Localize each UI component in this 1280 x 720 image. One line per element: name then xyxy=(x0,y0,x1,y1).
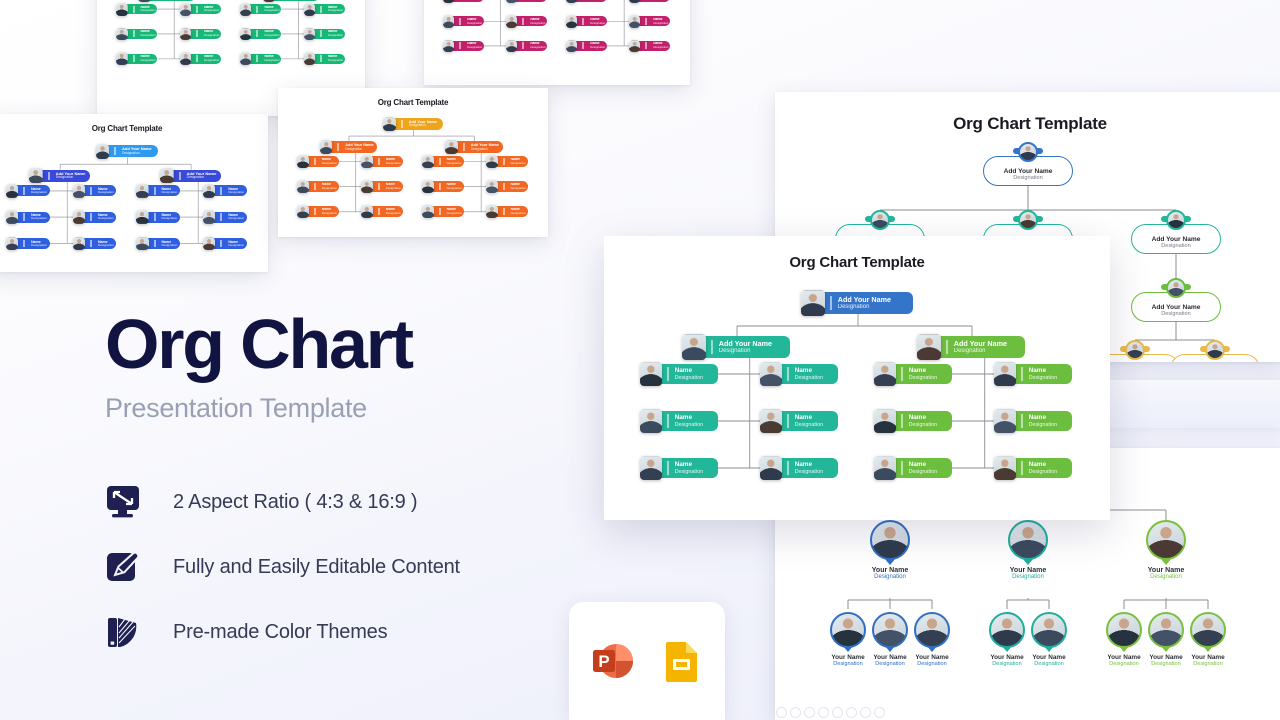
org-node[interactable]: Your NameDesignation xyxy=(983,520,1073,580)
org-node-name: Add Your Name xyxy=(719,340,790,348)
org-node[interactable]: NameDesignation xyxy=(74,238,116,249)
org-node-text: NameDesignation xyxy=(314,183,339,190)
org-node-designation: Designation xyxy=(141,9,158,12)
org-node[interactable]: NameDesignation xyxy=(181,29,221,40)
avatar xyxy=(422,155,434,168)
slide-card-orange-theme[interactable]: Org Chart TemplateAdd Your NameDesignati… xyxy=(278,88,548,237)
org-node-designation: Designation xyxy=(1178,661,1238,667)
org-node-text: NameDesignation xyxy=(503,183,528,190)
org-node-name: Your Name xyxy=(1178,654,1238,661)
avatar xyxy=(443,15,454,28)
org-node[interactable]: NameDesignation xyxy=(487,181,528,192)
toolbar-icon-download[interactable] xyxy=(790,707,801,718)
org-node-designation: Designation xyxy=(322,212,339,215)
org-node-designation: Designation xyxy=(228,217,246,220)
org-node[interactable]: NameDesignation xyxy=(487,206,528,217)
org-node[interactable]: NameDesignation xyxy=(74,212,116,223)
org-node-designation: Designation xyxy=(345,148,377,152)
page-title: Org Chart Template xyxy=(604,254,1110,271)
avatar xyxy=(994,456,1016,480)
org-node[interactable]: NameDesignation xyxy=(423,181,464,192)
page-title: Org Chart Template xyxy=(278,98,548,107)
org-node-designation: Designation xyxy=(98,217,116,220)
org-node[interactable]: NameDesignation xyxy=(630,0,670,2)
toolbar-icon-share[interactable] xyxy=(818,707,829,718)
org-node-designation: Designation xyxy=(467,46,484,49)
avatar xyxy=(629,15,640,28)
org-node[interactable]: NameDesignation xyxy=(298,156,339,167)
org-node[interactable]: Add Your NameDesignation xyxy=(384,118,443,130)
org-node-name: Name xyxy=(1029,414,1072,421)
avatar xyxy=(1205,340,1225,360)
avatar xyxy=(304,3,315,16)
org-node-text: Add Your NameDesignation xyxy=(946,340,1025,355)
org-node-name: Your Name xyxy=(1121,567,1211,574)
org-node[interactable]: NameDesignation xyxy=(204,185,246,196)
org-node[interactable]: Add Your NameDesignation xyxy=(446,141,503,153)
monitor-aspect-ratio-icon xyxy=(105,483,145,523)
org-node-designation: Designation xyxy=(1161,243,1191,249)
org-node[interactable]: NameDesignation xyxy=(444,16,484,27)
avatar xyxy=(870,210,890,230)
org-node-text: NameDesignation xyxy=(154,213,180,220)
org-node-text: NameDesignation xyxy=(220,187,246,194)
list-item: 2 Aspect Ratio ( 4:3 & 16:9 ) xyxy=(105,470,460,535)
org-node-text: NameDesignation xyxy=(582,42,607,49)
org-node[interactable]: NameDesignation xyxy=(181,4,221,15)
org-node[interactable]: NameDesignation xyxy=(204,212,246,223)
org-node-designation: Designation xyxy=(204,9,221,12)
org-node-text: NameDesignation xyxy=(645,18,670,25)
avatar xyxy=(566,15,577,28)
org-node[interactable]: NameDesignation xyxy=(567,0,607,2)
app-compatibility-card: P xyxy=(569,602,725,720)
org-node[interactable]: NameDesignation xyxy=(117,54,157,65)
org-node-designation: Designation xyxy=(675,422,718,428)
powerpoint-icon: P xyxy=(587,635,639,687)
org-node[interactable]: Add Your NameDesignation xyxy=(31,170,90,182)
avatar xyxy=(6,184,18,198)
org-node[interactable]: NameDesignation xyxy=(996,411,1072,431)
toolbar-icon-edit[interactable] xyxy=(804,707,815,718)
slide-card-blue-theme[interactable]: Org Chart TemplateAdd Your NameDesignati… xyxy=(0,114,268,272)
avatar xyxy=(361,180,373,193)
org-node[interactable]: NameDesignation xyxy=(204,238,246,249)
org-node-designation: Designation xyxy=(322,187,339,190)
org-node-name: Name xyxy=(795,461,838,468)
org-node-text: NameDesignation xyxy=(154,240,180,247)
org-node[interactable]: Your NameDesignation xyxy=(845,520,935,580)
org-node[interactable]: Your NameDesignation xyxy=(1121,520,1211,580)
avatar xyxy=(566,0,577,3)
avatar xyxy=(1166,210,1186,230)
avatar xyxy=(1018,142,1038,162)
org-node-designation: Designation xyxy=(31,244,49,247)
org-node-text: NameDesignation xyxy=(154,187,180,194)
avatar xyxy=(116,52,127,65)
org-node[interactable]: Add Your NameDesignation xyxy=(919,336,1025,358)
org-node-text: NameDesignation xyxy=(314,158,339,165)
org-node[interactable]: Add Your NameDesignation xyxy=(162,170,221,182)
avatar xyxy=(240,28,251,41)
org-node[interactable]: NameDesignation xyxy=(241,29,281,40)
org-node-name: Name xyxy=(675,367,718,374)
color-fan-palette-icon xyxy=(105,613,145,653)
org-node[interactable]: NameDesignation xyxy=(362,181,403,192)
avatar xyxy=(640,456,662,480)
avatar xyxy=(116,3,127,16)
org-node-designation: Designation xyxy=(653,22,670,25)
org-node[interactable]: NameDesignation xyxy=(507,0,547,2)
org-node-designation: Designation xyxy=(264,59,281,62)
avatar xyxy=(874,362,896,386)
org-node[interactable]: NameDesignation xyxy=(642,458,718,478)
org-node-designation: Designation xyxy=(530,22,547,25)
org-node-text: NameDesignation xyxy=(320,55,345,62)
org-node[interactable]: NameDesignation xyxy=(241,4,281,15)
avatar xyxy=(180,3,191,16)
org-node[interactable]: Add Your NameDesignation xyxy=(139,0,195,1)
org-node-name: Add Your Name xyxy=(1004,168,1053,175)
org-node[interactable]: NameDesignation xyxy=(630,41,670,52)
org-node-text: NameDesignation xyxy=(220,240,246,247)
org-node-text: NameDesignation xyxy=(522,42,547,49)
org-node-text: NameDesignation xyxy=(1021,461,1072,474)
org-node[interactable]: NameDesignation xyxy=(423,206,464,217)
org-node-designation: Designation xyxy=(511,162,528,165)
org-node-text: Add Your NameDesignation xyxy=(114,147,158,155)
org-node[interactable]: NameDesignation xyxy=(642,411,718,431)
avatar xyxy=(160,168,173,183)
org-node[interactable]: NameDesignation xyxy=(876,411,952,431)
org-node-designation: Designation xyxy=(909,375,952,381)
list-item-label: Fully and Easily Editable Content xyxy=(173,556,460,579)
org-node-name: Your Name xyxy=(1019,654,1079,661)
org-node-name: Your Name xyxy=(902,654,962,661)
org-node[interactable]: Add Your NameDesignation xyxy=(684,336,790,358)
org-node[interactable]: Your NameDesignation xyxy=(1019,612,1079,667)
org-node[interactable]: NameDesignation xyxy=(507,41,547,52)
org-node-designation: Designation xyxy=(122,152,158,156)
list-item-label: 2 Aspect Ratio ( 4:3 & 16:9 ) xyxy=(173,491,417,514)
org-node[interactable]: NameDesignation xyxy=(642,364,718,384)
org-node[interactable]: NameDesignation xyxy=(138,212,180,223)
org-node-designation: Designation xyxy=(1013,175,1043,181)
org-node-name: Name xyxy=(795,367,838,374)
org-node-text: NameDesignation xyxy=(196,30,221,37)
avatar xyxy=(640,362,662,386)
avatar xyxy=(297,180,309,193)
org-node-designation: Designation xyxy=(409,124,443,128)
avatar xyxy=(6,237,18,251)
org-node[interactable]: NameDesignation xyxy=(298,206,339,217)
org-node[interactable]: NameDesignation xyxy=(876,458,952,478)
org-node-name: Name xyxy=(1029,461,1072,468)
org-node-designation: Designation xyxy=(675,375,718,381)
avatar xyxy=(443,40,454,53)
org-node-designation: Designation xyxy=(1029,469,1072,475)
avatar xyxy=(73,184,85,198)
org-node[interactable]: NameDesignation xyxy=(362,156,403,167)
org-node-text: NameDesignation xyxy=(196,55,221,62)
org-node[interactable]: NameDesignation xyxy=(423,156,464,167)
org-node-text: NameDesignation xyxy=(645,42,670,49)
org-node[interactable]: NameDesignation xyxy=(762,458,838,478)
avatar xyxy=(29,168,42,183)
org-node[interactable]: NameDesignation xyxy=(117,29,157,40)
org-node-text: NameDesignation xyxy=(667,461,718,474)
org-node[interactable]: NameDesignation xyxy=(567,16,607,27)
avatar xyxy=(994,409,1016,433)
avatar xyxy=(138,0,151,2)
avatar xyxy=(486,180,498,193)
org-node-text: NameDesignation xyxy=(901,461,952,474)
avatar xyxy=(203,210,215,224)
org-node-text: Add Your NameDesignation xyxy=(711,340,790,355)
org-node-name: Name xyxy=(909,367,952,374)
avatar xyxy=(629,40,640,53)
org-node-designation: Designation xyxy=(98,191,116,194)
org-node[interactable]: NameDesignation xyxy=(996,364,1072,384)
org-node-designation: Designation xyxy=(56,176,90,180)
org-node-text: Add Your NameDesignation xyxy=(48,172,90,180)
org-node-name: Your Name xyxy=(983,567,1073,574)
org-node-text: NameDesignation xyxy=(459,42,484,49)
avatar xyxy=(566,40,577,53)
avatar xyxy=(422,180,434,193)
org-node-designation: Designation xyxy=(845,574,935,580)
org-node-text: NameDesignation xyxy=(23,213,49,220)
org-node-text: NameDesignation xyxy=(439,183,464,190)
org-node-designation: Designation xyxy=(530,46,547,49)
org-node-text: NameDesignation xyxy=(378,158,403,165)
avatar xyxy=(320,140,333,154)
org-node-text: NameDesignation xyxy=(320,6,345,13)
org-node-designation: Designation xyxy=(590,46,607,49)
org-node-designation: Designation xyxy=(795,375,838,381)
avatar xyxy=(1031,612,1067,648)
svg-text:P: P xyxy=(598,652,609,671)
toolbar-icon-play[interactable] xyxy=(776,707,787,718)
avatar xyxy=(203,237,215,251)
toolbar-icon-grid[interactable] xyxy=(860,707,871,718)
avatar xyxy=(1008,520,1048,560)
org-node[interactable]: NameDesignation xyxy=(7,238,49,249)
avatar xyxy=(96,144,109,159)
org-node-name: Name xyxy=(909,414,952,421)
org-node-text: Add Your NameDesignation xyxy=(463,143,503,151)
avatar xyxy=(297,205,309,218)
slide-card-magenta-theme[interactable]: Add Your NameDesignationAdd Your NameDes… xyxy=(424,0,690,85)
org-node-designation: Designation xyxy=(328,59,345,62)
toolbar-icon-search[interactable] xyxy=(832,707,843,718)
org-node-name: Add Your Name xyxy=(954,340,1025,348)
org-node[interactable]: Add Your NameDesignation xyxy=(264,0,320,1)
org-node-designation: Designation xyxy=(141,34,158,37)
org-node-designation: Designation xyxy=(1121,574,1211,580)
org-node-designation: Designation xyxy=(653,46,670,49)
org-node-designation: Designation xyxy=(795,469,838,475)
org-node-designation: Designation xyxy=(162,244,180,247)
avatar xyxy=(1018,210,1038,230)
avatar xyxy=(1125,340,1145,360)
org-node[interactable]: NameDesignation xyxy=(487,156,528,167)
org-node[interactable]: Add Your NameDesignation xyxy=(1131,292,1221,322)
page-title: Org Chart Template xyxy=(0,124,268,133)
org-node[interactable]: Add Your NameDesignation xyxy=(321,141,378,153)
avatar xyxy=(297,155,309,168)
org-node[interactable]: NameDesignation xyxy=(762,364,838,384)
avatar xyxy=(116,28,127,41)
org-node[interactable]: NameDesignation xyxy=(762,411,838,431)
org-node-designation: Designation xyxy=(228,191,246,194)
org-node-designation: Designation xyxy=(386,187,403,190)
avatar xyxy=(304,28,315,41)
avatar xyxy=(136,237,148,251)
org-node[interactable]: NameDesignation xyxy=(7,212,49,223)
org-node-designation: Designation xyxy=(162,191,180,194)
toolbar-icon-list[interactable] xyxy=(846,707,857,718)
avatar xyxy=(760,409,782,433)
org-node-designation: Designation xyxy=(447,212,464,215)
org-node-designation: Designation xyxy=(719,348,790,355)
org-node-text: Add Your NameDesignation xyxy=(830,296,913,311)
avatar xyxy=(361,155,373,168)
avatar xyxy=(506,0,517,3)
org-node[interactable]: NameDesignation xyxy=(567,41,607,52)
org-node-designation: Designation xyxy=(162,217,180,220)
org-node-designation: Designation xyxy=(1029,422,1072,428)
org-node-text: Add Your NameDesignation xyxy=(337,143,377,151)
avatar xyxy=(136,184,148,198)
org-node-text: NameDesignation xyxy=(256,55,281,62)
org-node[interactable]: NameDesignation xyxy=(241,54,281,65)
avatar xyxy=(760,362,782,386)
avatar xyxy=(136,210,148,224)
avatar xyxy=(994,362,1016,386)
org-node[interactable]: NameDesignation xyxy=(444,0,484,2)
org-node[interactable]: NameDesignation xyxy=(996,458,1072,478)
org-node-designation: Designation xyxy=(98,244,116,247)
avatar xyxy=(640,409,662,433)
list-item: Pre-made Color Themes xyxy=(105,600,460,665)
org-node[interactable]: NameDesignation xyxy=(74,185,116,196)
org-node-designation: Designation xyxy=(141,59,158,62)
org-node[interactable]: NameDesignation xyxy=(138,238,180,249)
org-node-text: NameDesignation xyxy=(787,414,838,427)
org-node[interactable]: Add Your NameDesignation xyxy=(803,292,913,314)
org-node-designation: Designation xyxy=(447,187,464,190)
org-node[interactable]: NameDesignation xyxy=(507,16,547,27)
org-node-text: NameDesignation xyxy=(459,18,484,25)
avatar xyxy=(874,456,896,480)
org-node-text: NameDesignation xyxy=(23,187,49,194)
org-node[interactable]: Your NameDesignation xyxy=(902,612,962,667)
avatar xyxy=(1190,612,1226,648)
page-title: Org Chart Template xyxy=(775,114,1280,134)
org-node-name: Name xyxy=(675,414,718,421)
avatar xyxy=(443,0,454,3)
org-node[interactable]: Your NameDesignation xyxy=(1178,612,1238,667)
org-node-designation: Designation xyxy=(909,469,952,475)
avatar xyxy=(180,52,191,65)
org-node[interactable]: NameDesignation xyxy=(362,206,403,217)
avatar xyxy=(874,409,896,433)
org-node-text: NameDesignation xyxy=(787,461,838,474)
toolbar-icon-more[interactable] xyxy=(874,707,885,718)
org-node-designation: Designation xyxy=(590,22,607,25)
org-node-designation: Designation xyxy=(983,574,1073,580)
org-node-text: NameDesignation xyxy=(522,18,547,25)
org-node[interactable]: Add Your NameDesignation xyxy=(1170,354,1260,362)
org-node[interactable]: NameDesignation xyxy=(305,29,345,40)
org-node-designation: Designation xyxy=(467,22,484,25)
org-node-text: NameDesignation xyxy=(503,158,528,165)
google-slides-icon xyxy=(655,635,707,687)
org-node-text: NameDesignation xyxy=(90,240,116,247)
org-node-text: NameDesignation xyxy=(133,6,158,13)
org-node-text: NameDesignation xyxy=(90,213,116,220)
org-node-text: NameDesignation xyxy=(133,30,158,37)
org-node-designation: Designation xyxy=(1029,375,1072,381)
avatar xyxy=(801,290,825,317)
org-node[interactable]: NameDesignation xyxy=(305,4,345,15)
org-node[interactable]: NameDesignation xyxy=(117,4,157,15)
org-node-text: Add Your NameDesignation xyxy=(401,120,443,128)
avatar xyxy=(383,117,396,131)
org-node-text: NameDesignation xyxy=(439,158,464,165)
org-node-designation: Designation xyxy=(264,9,281,12)
list-item-label: Pre-made Color Themes xyxy=(173,621,387,644)
org-node[interactable]: NameDesignation xyxy=(444,41,484,52)
avatar xyxy=(506,15,517,28)
avatar xyxy=(422,205,434,218)
feature-list: 2 Aspect Ratio ( 4:3 & 16:9 ) Fully and … xyxy=(105,470,460,665)
slide-card-main-teal-green-theme[interactable]: Org Chart TemplateAdd Your NameDesignati… xyxy=(604,236,1110,520)
org-node-designation: Designation xyxy=(511,187,528,190)
avatar xyxy=(240,52,251,65)
avatar xyxy=(914,612,950,648)
org-node-designation: Designation xyxy=(675,469,718,475)
org-node[interactable]: Add Your NameDesignation xyxy=(983,156,1073,186)
pencil-edit-square-icon xyxy=(105,548,145,588)
org-node[interactable]: NameDesignation xyxy=(138,185,180,196)
org-node[interactable]: NameDesignation xyxy=(876,364,952,384)
org-node[interactable]: NameDesignation xyxy=(298,181,339,192)
org-node-designation: Designation xyxy=(1161,311,1191,317)
avatar xyxy=(6,210,18,224)
avatar xyxy=(917,334,941,361)
org-node[interactable]: Add Your NameDesignation xyxy=(1131,224,1221,254)
org-node-name: Add Your Name xyxy=(1152,236,1201,243)
org-node[interactable]: Add Your NameDesignation xyxy=(97,145,158,157)
org-node-text: NameDesignation xyxy=(787,367,838,380)
org-node-designation: Designation xyxy=(1019,661,1079,667)
org-node-text: NameDesignation xyxy=(439,208,464,215)
org-node-designation: Designation xyxy=(322,162,339,165)
mini-toolbar[interactable] xyxy=(776,707,885,718)
org-node[interactable]: NameDesignation xyxy=(7,185,49,196)
org-node-designation: Designation xyxy=(471,148,503,152)
avatar xyxy=(486,155,498,168)
org-node[interactable]: NameDesignation xyxy=(305,54,345,65)
org-node[interactable]: NameDesignation xyxy=(181,54,221,65)
org-node-designation: Designation xyxy=(386,162,403,165)
org-node-text: NameDesignation xyxy=(1021,367,1072,380)
org-node-designation: Designation xyxy=(187,176,221,180)
org-node-name: Add Your Name xyxy=(1152,304,1201,311)
org-node[interactable]: NameDesignation xyxy=(630,16,670,27)
